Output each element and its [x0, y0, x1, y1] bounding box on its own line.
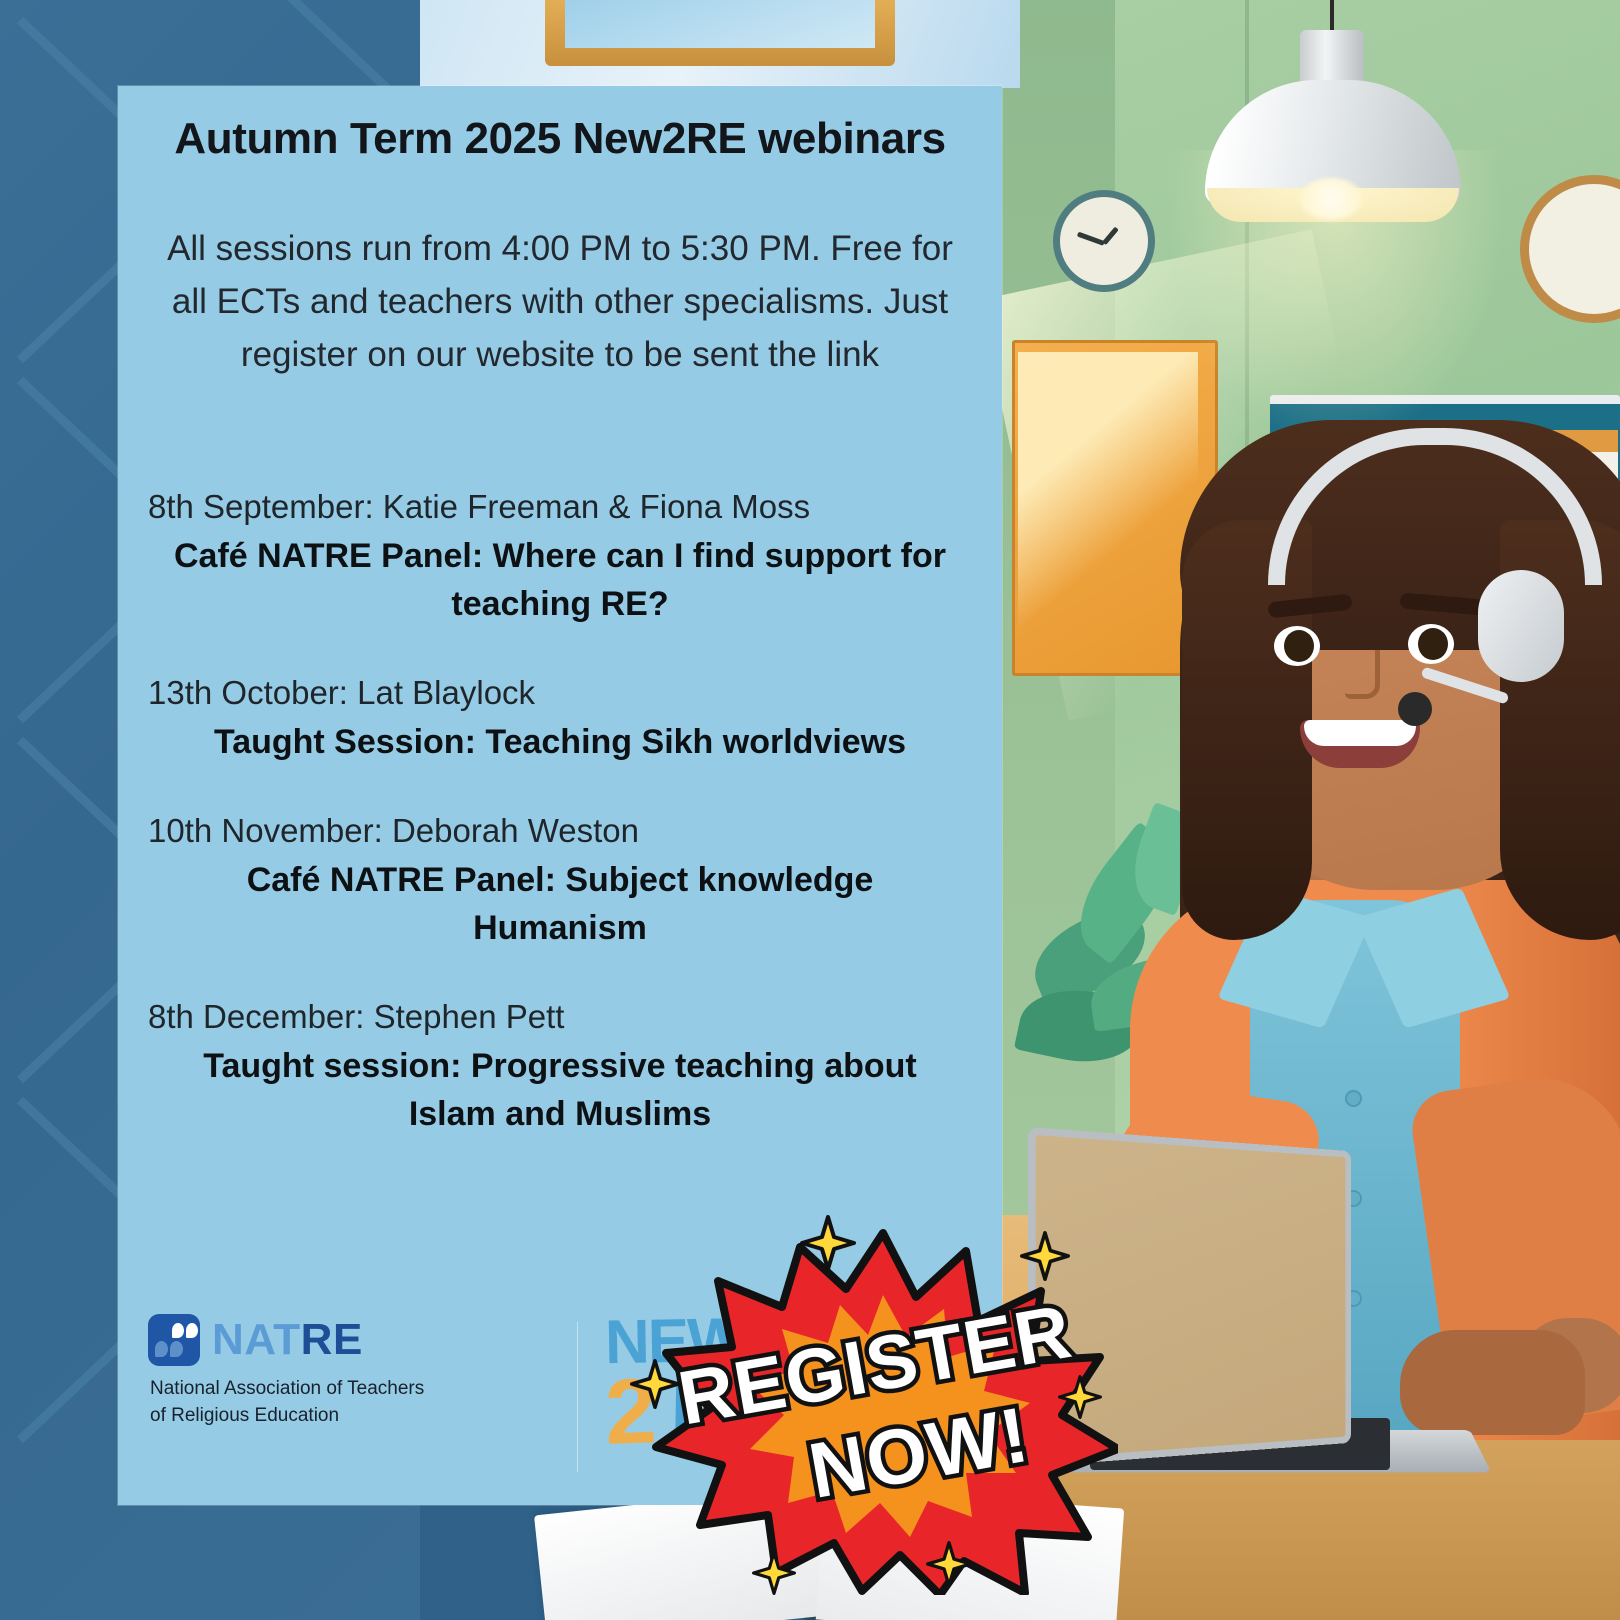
- nose: [1345, 650, 1380, 699]
- session-topic: Café NATRE Panel: Subject knowledge Huma…: [140, 852, 980, 952]
- natre-wordmark-dark: RE: [301, 1315, 363, 1364]
- headset-mic-icon: [1398, 692, 1432, 726]
- natre-wordmark: NATRE: [212, 1318, 363, 1362]
- logo-divider: [577, 1322, 578, 1472]
- register-now-badge[interactable]: REGISTER NOW!: [648, 1225, 1118, 1595]
- session-date-speaker: 10th November: Deborah Weston: [140, 810, 980, 852]
- session-item: 8th September: Katie Freeman & Fiona Mos…: [140, 486, 980, 628]
- session-topic: Taught Session: Teaching Sikh worldviews: [140, 714, 980, 766]
- page-title: Autumn Term 2025 New2RE webinars: [118, 114, 1002, 164]
- eye-left: [1274, 626, 1320, 666]
- natre-strapline-line2: of Religious Education: [150, 1402, 568, 1429]
- natre-strapline-line1: National Association of Teachers: [150, 1375, 568, 1402]
- session-topic: Café NATRE Panel: Where can I find suppo…: [140, 528, 980, 628]
- session-topic: Taught session: Progressive teaching abo…: [140, 1038, 980, 1138]
- mirror-glass: [565, 0, 875, 48]
- intro-paragraph: All sessions run from 4:00 PM to 5:30 PM…: [148, 222, 972, 381]
- headset-earcup: [1478, 570, 1564, 682]
- lamp-bulb-icon: [1300, 178, 1362, 220]
- session-list: 8th September: Katie Freeman & Fiona Mos…: [140, 486, 980, 1182]
- hand-left: [1400, 1330, 1585, 1435]
- natre-logo: NATRE National Association of Teachers o…: [148, 1314, 568, 1429]
- session-date-speaker: 13th October: Lat Blaylock: [140, 672, 980, 714]
- session-date-speaker: 8th September: Katie Freeman & Fiona Mos…: [140, 486, 980, 528]
- poster-canvas: Autumn Term 2025 New2RE webinars All ses…: [0, 0, 1620, 1620]
- wall-clock-icon: [1053, 190, 1155, 292]
- mouth: [1300, 720, 1420, 768]
- natre-quote-mark-icon: [148, 1314, 200, 1366]
- session-date-speaker: 8th December: Stephen Pett: [140, 996, 980, 1038]
- natre-wordmark-light: NAT: [212, 1315, 301, 1364]
- session-item: 13th October: Lat Blaylock Taught Sessio…: [140, 672, 980, 766]
- eye-right: [1408, 624, 1454, 664]
- shirt-button: [1345, 1090, 1362, 1107]
- session-item: 10th November: Deborah Weston Café NATRE…: [140, 810, 980, 952]
- session-item: 8th December: Stephen Pett Taught sessio…: [140, 996, 980, 1138]
